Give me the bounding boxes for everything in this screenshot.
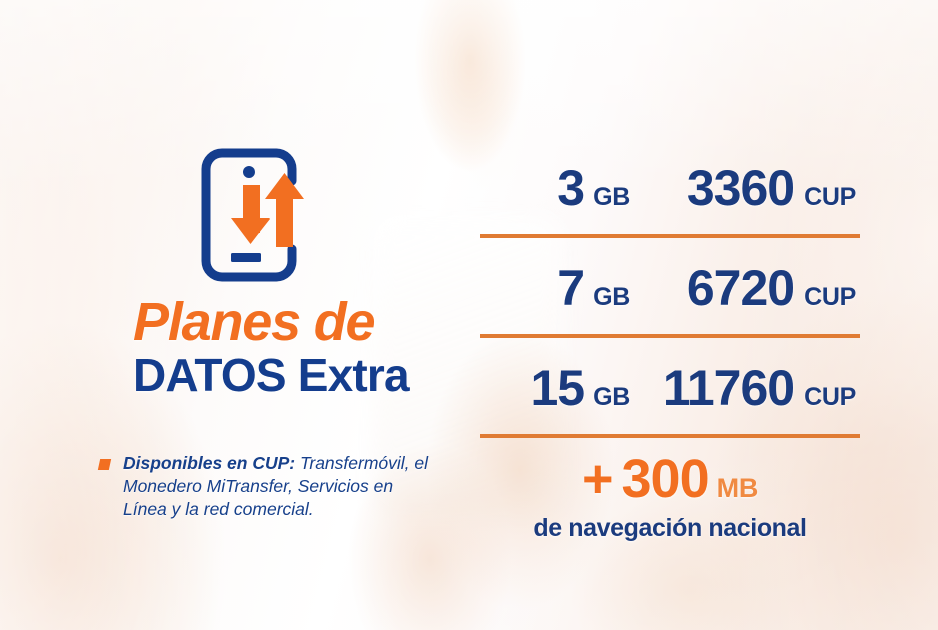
price-cell: 6720 CUP xyxy=(630,259,860,317)
table-row: 7 GB 6720 CUP xyxy=(480,238,860,338)
price-amount: 11760 xyxy=(663,359,794,417)
data-unit: GB xyxy=(593,183,630,212)
square-bullet-icon xyxy=(98,459,111,470)
price-amount: 6720 xyxy=(687,259,794,317)
promo-poster: Planes de DATOS Extra Disponibles en CUP… xyxy=(0,0,938,630)
title-line-1: Planes de xyxy=(133,296,453,349)
price-table: 3 GB 3360 CUP 7 GB 6720 CUP xyxy=(480,138,860,438)
data-amount: 3 xyxy=(557,159,584,217)
page-title: Planes de DATOS Extra xyxy=(133,296,453,398)
bonus-block: + 300 MB de navegación nacional xyxy=(480,452,860,543)
data-allowance-cell: 7 GB xyxy=(480,259,630,317)
data-unit: GB xyxy=(593,383,630,412)
price-currency: CUP xyxy=(804,283,856,312)
left-column: Planes de DATOS Extra Disponibles en CUP… xyxy=(0,0,460,630)
bonus-unit: MB xyxy=(717,473,758,504)
bonus-amount-row: + 300 MB xyxy=(480,452,860,506)
availability-heading: Disponibles en CUP: xyxy=(123,453,295,473)
data-amount: 15 xyxy=(530,359,584,417)
price-currency: CUP xyxy=(804,383,856,412)
availability-note: Disponibles en CUP: Transfermóvil, el Mo… xyxy=(99,452,429,520)
table-row: 3 GB 3360 CUP xyxy=(480,138,860,238)
price-amount: 3360 xyxy=(687,159,794,217)
title-line-2: DATOS Extra xyxy=(133,353,453,398)
table-row: 15 GB 11760 CUP xyxy=(480,338,860,438)
price-cell: 3360 CUP xyxy=(630,159,860,217)
bonus-caption: de navegación nacional xyxy=(480,514,860,543)
availability-text: Disponibles en CUP: Transfermóvil, el Mo… xyxy=(123,452,429,520)
data-unit: GB xyxy=(593,283,630,312)
poster-content: Planes de DATOS Extra Disponibles en CUP… xyxy=(0,0,938,630)
row-divider xyxy=(480,434,860,438)
data-amount: 7 xyxy=(557,259,584,317)
plus-sign: + xyxy=(582,452,614,506)
price-cell: 11760 CUP xyxy=(630,359,860,417)
price-currency: CUP xyxy=(804,183,856,212)
data-allowance-cell: 15 GB xyxy=(480,359,630,417)
phone-data-transfer-icon xyxy=(198,145,310,290)
data-allowance-cell: 3 GB xyxy=(480,159,630,217)
bonus-value: 300 xyxy=(622,452,709,506)
